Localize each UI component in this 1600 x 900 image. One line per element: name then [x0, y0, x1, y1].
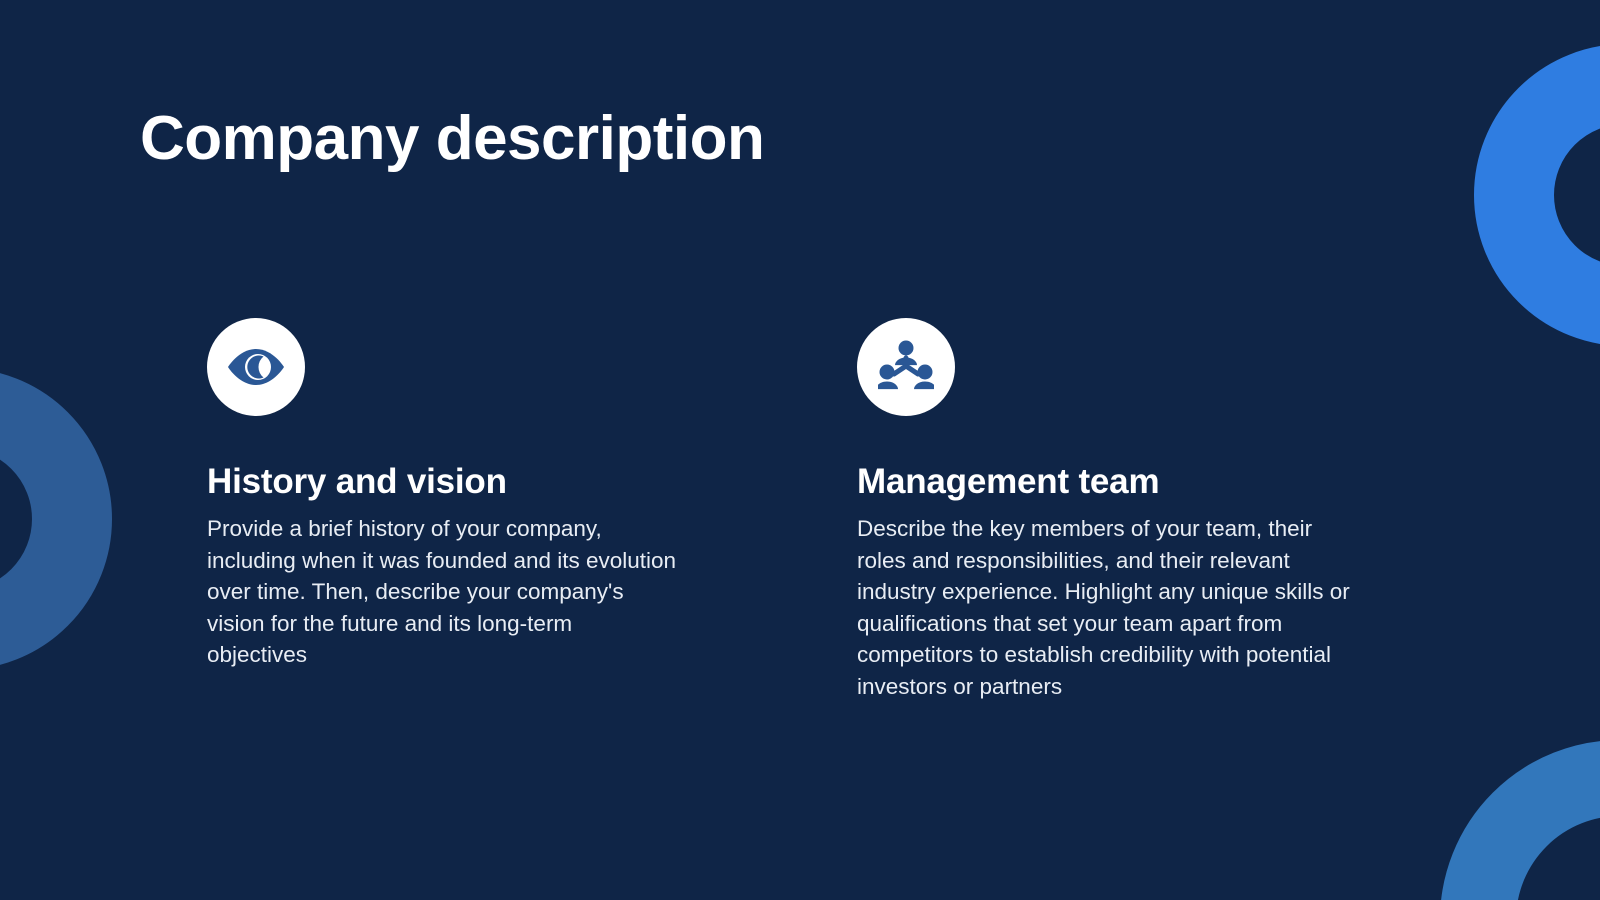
team-hierarchy-icon — [857, 318, 955, 416]
eye-icon — [207, 318, 305, 416]
page-title: Company description — [140, 104, 764, 173]
column-body: Describe the key members of your team, t… — [857, 513, 1352, 702]
slide-canvas: Company description History and vision P… — [0, 0, 1600, 900]
column-heading: History and vision — [207, 461, 694, 503]
column-body: Provide a brief history of your company,… — [207, 513, 677, 671]
columns-container: History and vision Provide a brief histo… — [207, 318, 1407, 702]
slide-content: Company description History and vision P… — [0, 0, 1600, 900]
column-management-team: Management team Describe the key members… — [857, 318, 1344, 702]
column-history-and-vision: History and vision Provide a brief histo… — [207, 318, 694, 702]
column-heading: Management team — [857, 461, 1344, 503]
